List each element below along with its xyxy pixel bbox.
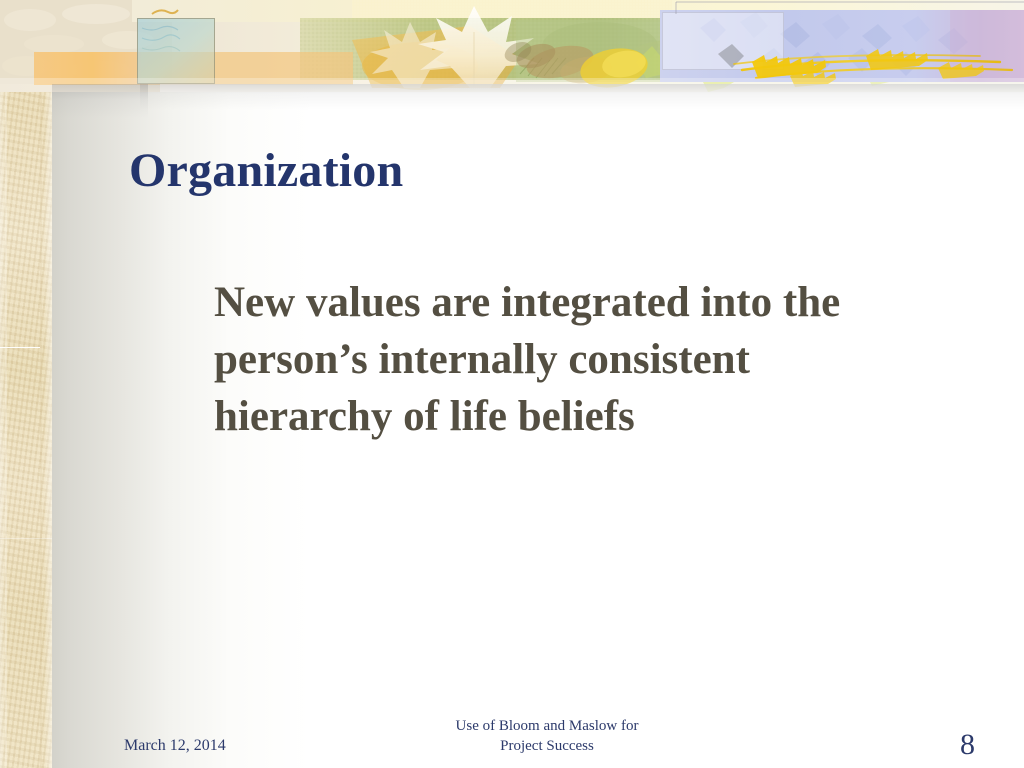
footer-presentation-title-line2: Project Success xyxy=(362,736,732,756)
header-decoration-band xyxy=(0,0,1024,92)
presentation-slide: Organization New values are integrated i… xyxy=(0,0,1024,768)
parchment-sidebar-strip xyxy=(0,0,52,768)
sidebar-hairline-divider xyxy=(0,347,40,348)
footer-presentation-title: Use of Bloom and Maslow for Project Succ… xyxy=(362,716,732,757)
slide-title: Organization xyxy=(129,146,403,196)
slide-body-text: New values are integrated into the perso… xyxy=(214,275,904,445)
footer-date: March 12, 2014 xyxy=(124,737,226,755)
footer-presentation-title-line1: Use of Bloom and Maslow for xyxy=(362,716,732,736)
sidebar-hairline-divider-secondary xyxy=(0,538,52,539)
footer-page-number: 8 xyxy=(960,728,975,762)
